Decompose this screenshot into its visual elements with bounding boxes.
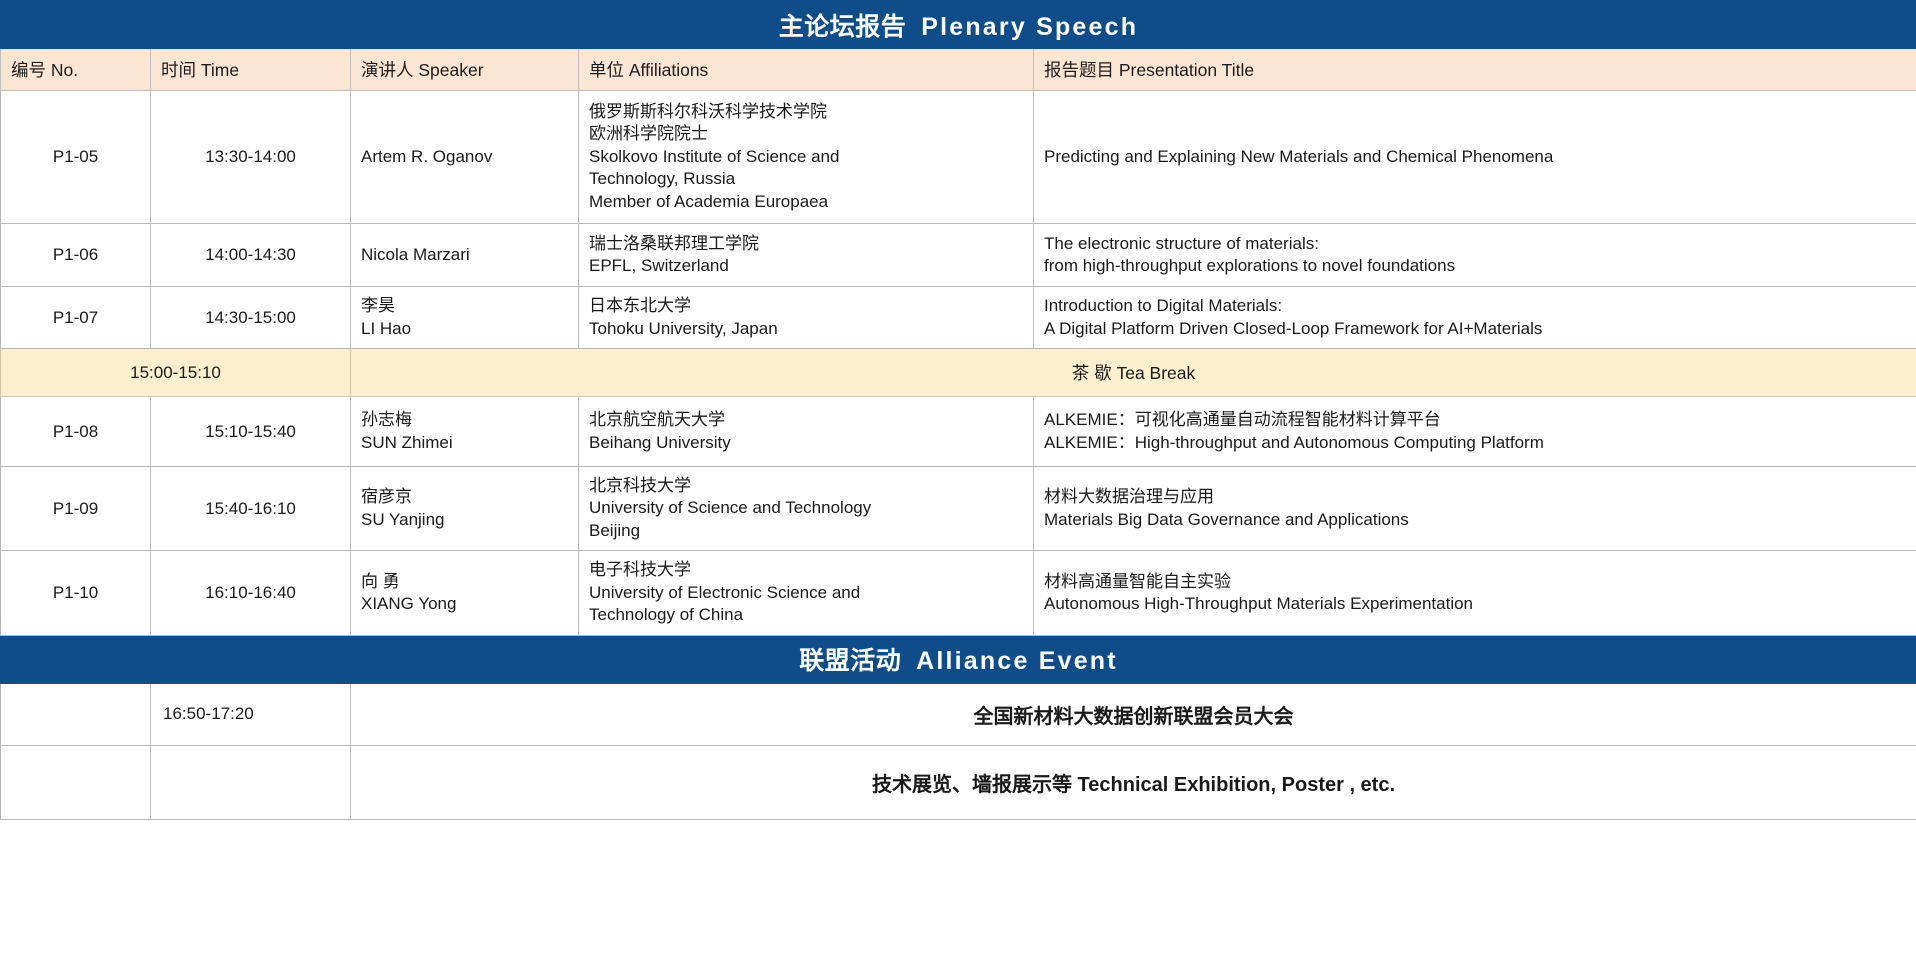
- affiliation-text: 电子科技大学 University of Electronic Science …: [589, 560, 860, 624]
- tea-break-time: 15:00-15:10: [1, 349, 351, 397]
- speaker-text: 宿彦京 SU Yanjing: [361, 487, 444, 528]
- tea-break-label: 茶 歇 Tea Break: [351, 349, 1916, 397]
- row-affiliation: 日本东北大学 Tohoku University, Japan: [579, 287, 1034, 349]
- table-header-row: 编号 No. 时间 Time 演讲人 Speaker 单位 Affiliatio…: [1, 49, 1916, 91]
- row-speaker: Nicola Marzari: [351, 224, 579, 287]
- row-no: P1-05: [1, 91, 151, 224]
- title-text: Predicting and Explaining New Materials …: [1044, 147, 1553, 166]
- speaker-text: 李昊 LI Hao: [361, 296, 411, 337]
- banner-en: Alliance Event: [916, 647, 1118, 675]
- banner-text-alliance-zh: 联盟活动 Alliance Event: [1, 641, 1916, 677]
- table-row: P1-08 15:10-15:40 孙志梅 SUN Zhimei 北京航空航天大…: [1, 397, 1916, 467]
- banner-zh: 主论坛报告: [779, 13, 921, 41]
- affiliation-text: 瑞士洛桑联邦理工学院 EPFL, Switzerland: [589, 234, 759, 275]
- alliance-label: 技术展览、墙报展示等 Technical Exhibition, Poster …: [351, 745, 1916, 819]
- title-text: The electronic structure of materials: f…: [1044, 234, 1455, 275]
- row-affiliation: 瑞士洛桑联邦理工学院 EPFL, Switzerland: [579, 224, 1034, 287]
- banner-cell-plenary: 主论坛报告 Plenary Speech: [1, 1, 1916, 49]
- affiliation-text: 俄罗斯斯科尔科沃科学技术学院 欧洲科学院院士 Skolkovo Institut…: [589, 102, 839, 211]
- speaker-text: Nicola Marzari: [361, 245, 470, 264]
- row-no: P1-08: [1, 397, 151, 467]
- banner-en: Plenary Speech: [921, 13, 1138, 41]
- row-affiliation: 电子科技大学 University of Electronic Science …: [579, 551, 1034, 635]
- row-title: 材料高通量智能自主实验 Autonomous High-Throughput M…: [1034, 551, 1916, 635]
- row-time: 14:30-15:00: [151, 287, 351, 349]
- row-speaker: Artem R. Oganov: [351, 91, 579, 224]
- section-banner-alliance: 联盟活动 Alliance Event: [1, 635, 1916, 683]
- row-title: Predicting and Explaining New Materials …: [1034, 91, 1916, 224]
- row-no: P1-07: [1, 287, 151, 349]
- row-affiliation: 北京航空航天大学 Beihang University: [579, 397, 1034, 467]
- row-affiliation: 俄罗斯斯科尔科沃科学技术学院 欧洲科学院院士 Skolkovo Institut…: [579, 91, 1034, 224]
- row-time: 16:10-16:40: [151, 551, 351, 635]
- row-no: P1-09: [1, 467, 151, 551]
- table-row: P1-05 13:30-14:00 Artem R. Oganov 俄罗斯斯科尔…: [1, 91, 1916, 224]
- title-text: 材料大数据治理与应用 Materials Big Data Governance…: [1044, 487, 1409, 528]
- banner-zh: 联盟活动: [799, 647, 916, 675]
- speaker-text: 向 勇 XIANG Yong: [361, 572, 456, 613]
- alliance-no: [1, 683, 151, 745]
- row-speaker: 向 勇 XIANG Yong: [351, 551, 579, 635]
- row-time: 13:30-14:00: [151, 91, 351, 224]
- table-row: P1-07 14:30-15:00 李昊 LI Hao 日本东北大学 Tohok…: [1, 287, 1916, 349]
- row-affiliation: 北京科技大学 University of Science and Technol…: [579, 467, 1034, 551]
- row-time: 14:00-14:30: [151, 224, 351, 287]
- column-header-affiliation: 单位 Affiliations: [579, 49, 1034, 91]
- row-no: P1-06: [1, 224, 151, 287]
- banner-cell-alliance: 联盟活动 Alliance Event: [1, 635, 1916, 683]
- column-header-time: 时间 Time: [151, 49, 351, 91]
- row-speaker: 孙志梅 SUN Zhimei: [351, 397, 579, 467]
- alliance-no: [1, 745, 151, 819]
- table-row: P1-10 16:10-16:40 向 勇 XIANG Yong 电子科技大学 …: [1, 551, 1916, 635]
- row-title: ALKEMIE：可视化高通量自动流程智能材料计算平台 ALKEMIE：High-…: [1034, 397, 1916, 467]
- alliance-label: 全国新材料大数据创新联盟会员大会: [351, 683, 1916, 745]
- section-banner-plenary: 主论坛报告 Plenary Speech: [1, 1, 1916, 49]
- affiliation-text: 北京科技大学 University of Science and Technol…: [589, 476, 871, 540]
- row-title: 材料大数据治理与应用 Materials Big Data Governance…: [1034, 467, 1916, 551]
- speaker-text: 孙志梅 SUN Zhimei: [361, 410, 453, 451]
- column-header-title: 报告题目 Presentation Title: [1034, 49, 1916, 91]
- tea-break-row: 15:00-15:10 茶 歇 Tea Break: [1, 349, 1916, 397]
- column-header-speaker: 演讲人 Speaker: [351, 49, 579, 91]
- affiliation-text: 北京航空航天大学 Beihang University: [589, 410, 731, 451]
- row-time: 15:40-16:10: [151, 467, 351, 551]
- title-text: ALKEMIE：可视化高通量自动流程智能材料计算平台 ALKEMIE：High-…: [1044, 410, 1544, 451]
- alliance-row: 16:50-17:20 全国新材料大数据创新联盟会员大会: [1, 683, 1916, 745]
- alliance-time: [151, 745, 351, 819]
- banner-text-plenary-zh: 主论坛报告 Plenary Speech: [1, 7, 1916, 43]
- title-text: 材料高通量智能自主实验 Autonomous High-Throughput M…: [1044, 572, 1473, 613]
- row-no: P1-10: [1, 551, 151, 635]
- row-speaker: 宿彦京 SU Yanjing: [351, 467, 579, 551]
- table-row: P1-06 14:00-14:30 Nicola Marzari 瑞士洛桑联邦理…: [1, 224, 1916, 287]
- speaker-text: Artem R. Oganov: [361, 147, 492, 166]
- title-text: Introduction to Digital Materials: A Dig…: [1044, 296, 1542, 337]
- table-row: P1-09 15:40-16:10 宿彦京 SU Yanjing 北京科技大学 …: [1, 467, 1916, 551]
- row-title: Introduction to Digital Materials: A Dig…: [1034, 287, 1916, 349]
- alliance-row: 技术展览、墙报展示等 Technical Exhibition, Poster …: [1, 745, 1916, 819]
- row-title: The electronic structure of materials: f…: [1034, 224, 1916, 287]
- alliance-time: 16:50-17:20: [151, 683, 351, 745]
- agenda-table: 主论坛报告 Plenary Speech 编号 No. 时间 Time 演讲人 …: [0, 0, 1916, 820]
- row-speaker: 李昊 LI Hao: [351, 287, 579, 349]
- column-header-no: 编号 No.: [1, 49, 151, 91]
- row-time: 15:10-15:40: [151, 397, 351, 467]
- affiliation-text: 日本东北大学 Tohoku University, Japan: [589, 296, 778, 337]
- agenda-sheet: 主论坛报告 Plenary Speech 编号 No. 时间 Time 演讲人 …: [0, 0, 1916, 820]
